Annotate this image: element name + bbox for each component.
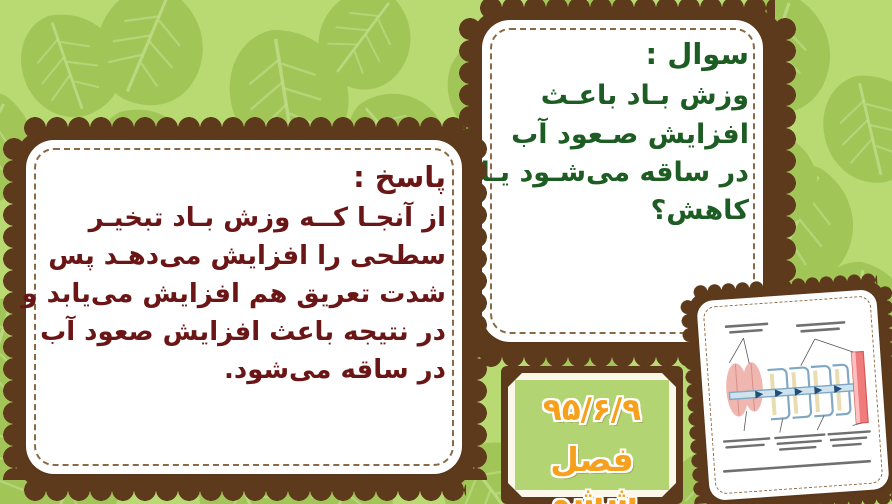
- question-line-3: در ساقه می‌شـود یـا: [496, 154, 749, 192]
- question-line-4: کاهش؟: [496, 192, 749, 230]
- question-line-2: افزایش صـعود آب: [496, 116, 749, 154]
- answer-text-block: پاسخ : از آنجـا کــه وزش بـاد تبخیـر سطح…: [44, 150, 446, 470]
- question-heading: سوال :: [496, 34, 749, 75]
- answer-card: پاسخ : از آنجـا کــه وزش بـاد تبخیـر سطح…: [14, 128, 476, 490]
- answer-heading: پاسخ :: [44, 156, 446, 198]
- plant-water-transport-figure: [706, 299, 880, 492]
- badge-chapter: فصل ششم: [501, 440, 683, 504]
- scallop-bumps-right: [465, 138, 487, 480]
- slide-stage: سوال : وزش بـاد باعـث افزایش صـعود آب در…: [0, 0, 892, 504]
- answer-line-1: از آنجـا کــه وزش بـاد تبخیـر: [44, 200, 446, 238]
- date-chapter-badge: ۹۵/۶/۹ فصل ششم: [501, 366, 683, 504]
- answer-line-4: در نتیجه باعث افزایش صعود آب: [44, 314, 446, 352]
- diagram-card: [687, 279, 892, 504]
- answer-line-2: سطحی را افزایش می‌دهـد پس: [44, 238, 446, 276]
- question-line-1: وزش بـاد باعـث: [496, 77, 749, 115]
- scallop-bumps-bottom: [24, 479, 466, 501]
- leaf-icon: [724, 362, 764, 418]
- scallop-bumps-top: [480, 0, 775, 19]
- water-column-icon: [851, 351, 868, 423]
- badge-date: ۹۵/۶/۹: [501, 392, 683, 428]
- answer-line-3: شدت تعریق هم افزایش می‌یابد و: [44, 276, 446, 314]
- answer-line-5: در ساقه می‌شود.: [44, 352, 446, 390]
- scallop-bumps-top: [24, 117, 466, 139]
